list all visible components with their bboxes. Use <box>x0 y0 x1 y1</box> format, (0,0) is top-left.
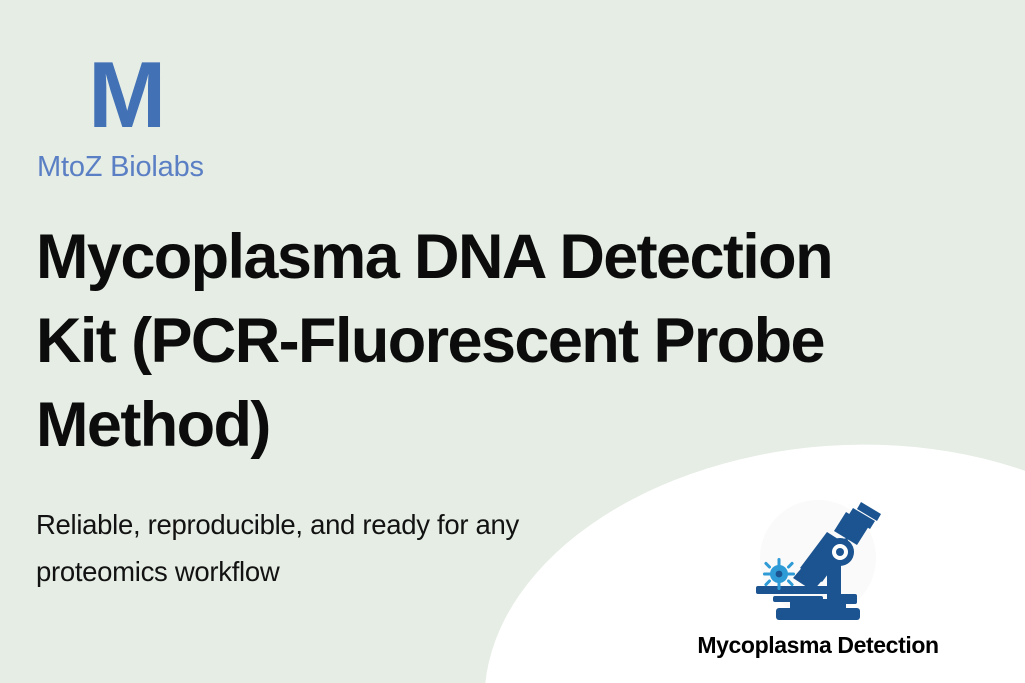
poster-canvas: M MtoZ Biolabs Mycoplasma DNA Detection … <box>0 0 1025 683</box>
badge-caption-label: Mycoplasma Detection <box>648 632 988 659</box>
detection-badge: Mycoplasma Detection <box>648 498 988 659</box>
page-title: Mycoplasma DNA Detection Kit (PCR-Fluore… <box>36 215 916 467</box>
brand-name-label: MtoZ Biolabs <box>37 152 296 184</box>
brand-mark-letter-icon: M <box>88 52 296 138</box>
microscope-icon <box>743 498 893 626</box>
page-subtitle: Reliable, reproducible, and ready for an… <box>36 501 636 595</box>
brand-logo: M MtoZ Biolabs <box>36 52 296 184</box>
